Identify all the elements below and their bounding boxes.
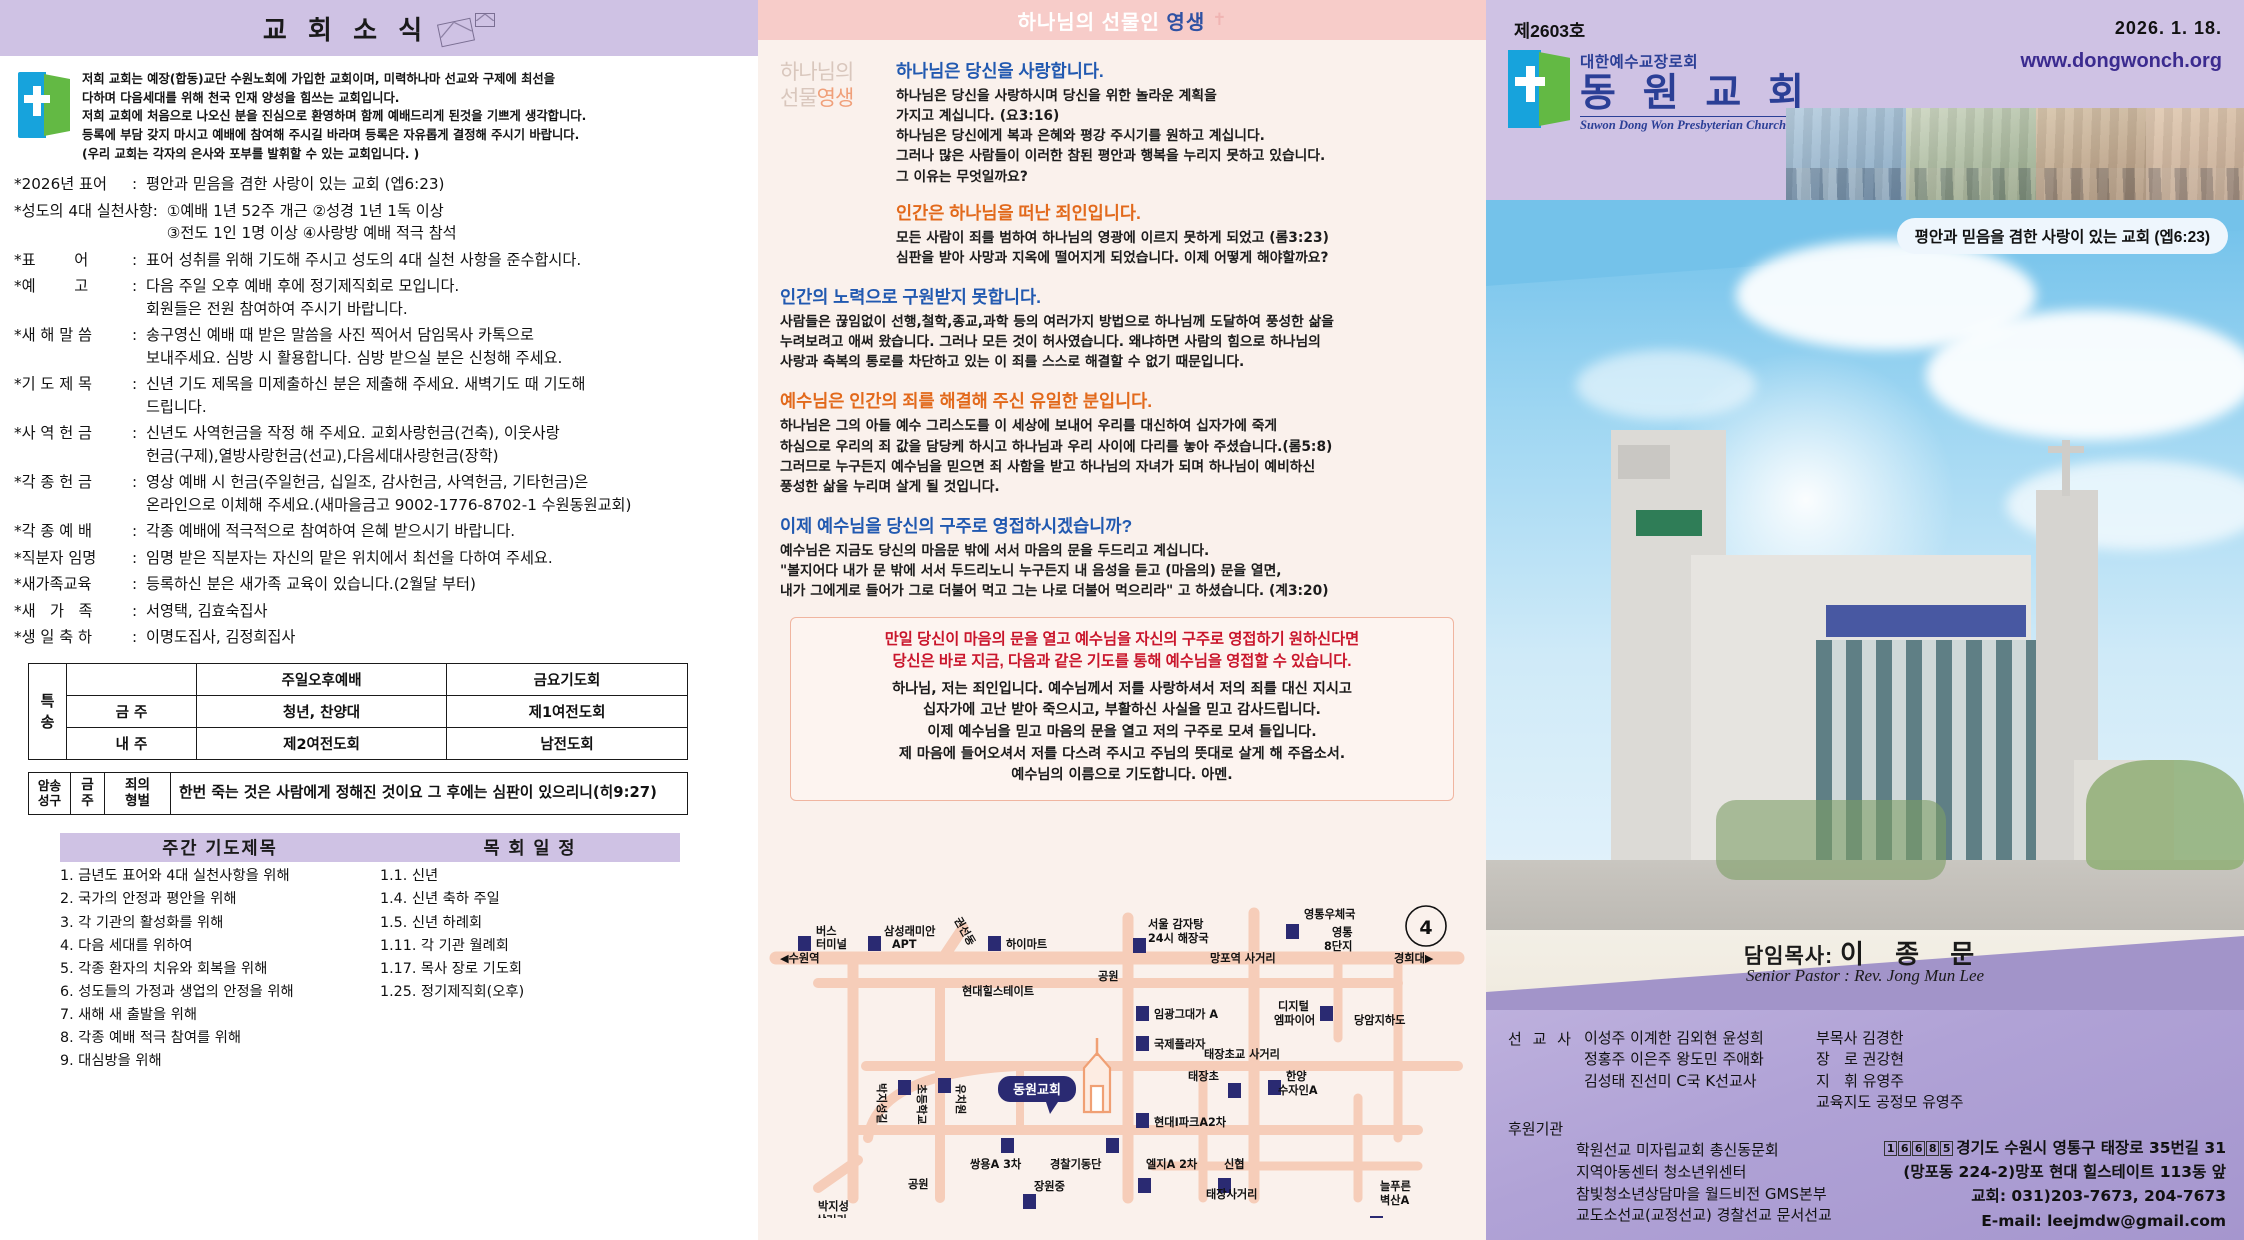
tower-sign [1636,510,1702,536]
gospel-paragraph: 하나님은 그의 아들 예수 그리스도를 이 세상에 보내어 우리를 대신하여 십… [780,416,1464,497]
svg-text:공원: 공원 [908,1177,929,1191]
envelope-icon-group [439,13,495,44]
notice-line: 온라인으로 이체해 주세요.(새마을금고 9002-1776-8702-1 수원… [146,494,746,517]
memory-verse-text: 한번 죽는 것은 사람에게 정해진 것이요 그 후에는 심판이 있으리니(히9:… [171,772,688,814]
notice-label: *새가족교육 [14,573,132,596]
notice-label: *각 종 헌 금 [14,471,132,516]
list-item: 2. 국가의 안정과 평안을 위해 [60,888,380,911]
intro-line: 저희 교회에 처음으로 나오신 분을 진심으로 환영하며 함께 예배드리게 된것… [82,107,586,126]
list-item: 장 로 권강현 [1816,1049,1964,1070]
notice-body: 임명 받은 직분자는 자신의 맡은 위치에서 최선을 다하여 주세요. [146,547,746,570]
svg-text:초등학교: 초등학교 [915,1084,929,1124]
notice-body: 등록하신 분은 새가족 교육이 있습니다.(2월달 부터) [146,573,746,596]
gospel-block-1: 하나님은 당신을 사랑합니다. 하나님은 당신을 사랑하시며 당신을 위한 놀라… [896,58,1464,268]
gospel-line: 그 이유는 무엇일까요? [896,167,1464,187]
notice-line: 이명도집사, 김정희집사 [146,626,746,649]
list-item: 1.1. 신년 [380,865,700,888]
notice-line: 서영택, 김효숙집사 [146,600,746,623]
list-item: 김성태 진선미 C국 K선교사 [1584,1071,1764,1092]
salvation-prayer-box: 만일 당신이 마음의 문을 열고 예수님을 자신의 구주로 영접하기 원하신다면… [790,617,1454,800]
notice-line: 드립니다. [146,396,746,419]
svg-text:현대힐스테이트: 현대힐스테이트 [962,984,1034,998]
list-item: 지 휘 유영주 [1816,1071,1964,1092]
svg-text:태장초교 사거리: 태장초교 사거리 [1204,1047,1280,1061]
address-text: 경기도 수원시 영통구 태장로 35번길 31 [1956,1139,2226,1157]
notice-colon: : [132,275,146,320]
list-item: 1.5. 신년 하례회 [380,912,700,935]
notice-line: 다음 주일 오후 예배 후에 정기제직회로 모입니다. [146,275,746,298]
gospel-line: 모든 사람이 죄를 범하여 하나님의 영광에 이르지 못하게 되었고 (롬3:2… [896,228,1464,248]
notice-item: *표 어 : 표어 성취를 위해 기도해 주시고 성도의 4대 실천 사항을 준… [14,249,746,272]
notice-colon: : [132,520,146,543]
svg-text:8단지: 8단지 [1324,939,1352,953]
svg-text:4: 4 [1419,917,1432,939]
gospel-line: 사람들은 끊임없이 선행,철학,종교,과학 등의 여러가지 방법으로 하나님께 … [780,312,1464,332]
gospel-line: 가지고 계십니다. (요3:16) [896,106,1464,126]
gift-watermark-line2b: 영생 [817,87,854,110]
svg-text:◀수원역: ◀수원역 [780,951,819,965]
notice-line: 등록하신 분은 새가족 교육이 있습니다.(2월달 부터) [146,573,746,596]
website-url[interactable]: www.dongwonch.org [2021,50,2222,73]
gospel-title: 하나님의 선물인 영생 [1018,6,1206,35]
svg-text:하이마트: 하이마트 [1006,937,1047,951]
svg-text:영통: 영통 [1332,926,1353,939]
envelope-small-icon [475,13,495,27]
svg-text:한양: 한양 [1286,1069,1307,1083]
weekly-prayer-list: 1. 금년도 표어와 4대 실천사항을 위해 2. 국가의 안정과 평안을 위해… [60,865,380,1073]
gospel-line: 예수님은 지금도 당신의 마음문 밖에 서서 마음의 문을 두드리고 계십니다. [780,541,1464,561]
svg-text:엠파이어: 엠파이어 [1274,1013,1315,1027]
salvation-prayer-heading: 만일 당신이 마음의 문을 열고 예수님을 자신의 구주로 영접하기 원하신다면… [803,629,1441,672]
intro-section: 저희 교회는 예장(합동)교단 수원노회에 가입한 교회이며, 미력하나마 선교… [0,56,758,163]
prayer-schedule-header: 주간 기도제목 목 회 일 정 [60,833,680,862]
gospel-block-3: 인간의 노력으로 구원받지 못합니다. 사람들은 끊임없이 선행,철학,종교,과… [780,284,1464,372]
bulletin-date: 2026. 1. 18. [2115,18,2222,39]
svg-text:국제플라자: 국제플라자 [1154,1037,1206,1051]
notice-item: *사 역 헌 금 : 신년도 사역헌금을 작정 해 주세요. 교회사랑헌금(건축… [14,422,746,467]
gospel-line: 그러므로 누구든지 예수님을 믿으면 죄 사함을 받고 하나님의 자녀가 되며 … [780,457,1464,477]
notice-item: *2026년 표어 : 평안과 믿음을 겸한 사랑이 있는 교회 (엡6:23) [14,173,746,196]
building-name-sign [1826,605,2026,637]
table-cell: 남전도회 [447,727,688,759]
notice-item: *생 일 축 하 : 이명도집사, 김정희집사 [14,626,746,649]
gospel-paragraph: 하나님은 당신을 사랑하시며 당신을 위한 놀라운 계획을 가지고 계십니다. … [896,86,1464,187]
list-item: 8. 각종 예배 적극 참여를 위해 [60,1027,380,1050]
prayer-line: 이제 예수님을 믿고 마음의 문을 열고 저의 구주로 모셔 들입니다. [803,722,1441,744]
notice-item: *성도의 4대 실천사항 : ①예배 1년 52주 개근 ②성경 1년 1독 이… [14,200,746,245]
gospel-block-4: 예수님은 인간의 죄를 해결해 주신 유일한 분입니다. 하나님은 그의 아들 … [780,388,1464,497]
notice-body: 영상 예배 시 헌금(주일헌금, 십일조, 감사헌금, 사역헌금, 기타헌금)은… [146,471,746,516]
notice-label: *기 도 제 목 [14,373,132,418]
zipcode-boxes: 16685 [1884,1141,1953,1156]
memory-verse-label: 암송성구 [29,772,71,814]
notice-line: 임명 받은 직분자는 자신의 맡은 위치에서 최선을 다하여 주세요. [146,547,746,570]
gospel-line: 하나님은 그의 아들 예수 그리스도를 이 세상에 보내어 우리를 대신하여 십… [780,416,1464,436]
gospel-heading: 인간은 하나님을 떠난 죄인입니다. [896,200,1464,225]
gospel-paragraph: 사람들은 끊임없이 선행,철학,종교,과학 등의 여러가지 방법으로 하나님께 … [780,312,1464,372]
notice-body: 신년도 사역헌금을 작정 해 주세요. 교회사랑헌금(건축), 이웃사랑 헌금(… [146,422,746,467]
notice-line: 영상 예배 시 헌금(주일헌금, 십일조, 감사헌금, 사역헌금, 기타헌금)은 [146,471,746,494]
list-item: 1.11. 각 기관 월례회 [380,935,700,958]
tree-shape [2086,760,2244,870]
table-row: 금 주 청년, 찬양대 제1여전도회 [29,695,688,727]
table-row: 내 주 제2여전도회 남전도회 [29,727,688,759]
gospel-line: 하나님은 당신을 사랑하시며 당신을 위한 놀라운 계획을 [896,86,1464,106]
notice-colon: : [153,200,167,245]
notice-line: 신년도 사역헌금을 작정 해 주세요. 교회사랑헌금(건축), 이웃사랑 [146,422,746,445]
list-item: 참빛청소년상담마을 월드비전 GMS본부 [1576,1184,1832,1206]
svg-text:태장사거리: 태장사거리 [1206,1187,1257,1201]
svg-text:태장초: 태장초 [1188,1069,1219,1083]
cross-icon: ✝ [1212,10,1226,30]
gospel-title-b: 영생 [1166,12,1205,34]
slogan-banner: 평안과 믿음을 겸한 사랑이 있는 교회 (엡6:23) [1897,218,2228,254]
table-cell: 제2여전도회 [197,727,447,759]
gospel-block-5: 이제 예수님을 당신의 구주로 영접하시겠습니까? 예수님은 지금도 당신의 마… [780,513,1464,601]
notice-body: ①예배 1년 52주 개근 ②성경 1년 1독 이상 ③전도 1인 1명 이상 … [167,200,746,245]
notice-body: 송구영신 예배 때 받은 말씀을 사진 찍어서 담임목사 카톡으로 보내주세요.… [146,324,746,369]
notice-item: *기 도 제 목 : 신년 기도 제목을 미제출하신 분은 제출해 주세요. 새… [14,373,746,418]
gift-watermark: 하나님의 선물영생 [780,58,884,268]
svg-text:당암지하도: 당암지하도 [1354,1013,1405,1027]
notice-line: 보내주세요. 심방 시 활용합니다. 심방 받으실 분은 신청해 주세요. [146,347,746,370]
notice-colon: : [132,573,146,596]
gospel-header: 하나님의 선물인 영생 ✝ [758,0,1486,40]
list-item: 7. 새해 새 출발을 위해 [60,1004,380,1027]
notice-colon: : [132,422,146,467]
column-masthead: 제2603호 2026. 1. 18. www.dongwonch.org 대한… [1486,0,2244,1240]
pastor-name: 이 종 문 [1840,939,1986,969]
list-item: 이성주 이계한 김외현 윤성희 [1584,1028,1764,1049]
notice-label: *표 어 [14,249,132,272]
ministry-schedule-header: 목 회 일 정 [380,833,680,862]
gospel-block-2: 인간은 하나님을 떠난 죄인입니다. 모든 사람이 죄를 범하여 하나님의 영광… [896,200,1464,268]
notice-body: 이명도집사, 김정희집사 [146,626,746,649]
notice-line: 송구영신 예배 때 받은 말씀을 사진 찍어서 담임목사 카톡으로 [146,324,746,347]
notice-label: *각 종 예 배 [14,520,132,543]
list-item: 3. 각 기관의 활성화를 위해 [60,912,380,935]
denomination-name: 대한예수교장로회 [1580,50,1832,72]
table-cell: 청년, 찬양대 [197,695,447,727]
list-item: 지역아동센터 청소년위센터 [1576,1162,1832,1184]
svg-text:수자인A: 수자인A [1278,1083,1318,1097]
svg-text:늘푸른: 늘푸른 [1380,1179,1411,1193]
notice-body: 다음 주일 오후 예배 후에 정기제직회로 모입니다. 회원들은 전원 참여하여… [146,275,746,320]
missionary-label: 선 교 사 [1508,1028,1574,1092]
notice-list: *2026년 표어 : 평안과 믿음을 겸한 사랑이 있는 교회 (엡6:23)… [0,163,758,649]
table-cell: 내 주 [67,727,197,759]
prayer-head-line: 당신은 바로 지금, 다음과 같은 기도를 통해 예수님을 영접할 수 있습니다… [803,651,1441,673]
ministry-schedule-list: 1.1. 신년 1.4. 신년 축하 주일 1.5. 신년 하례회 1.11. … [380,865,700,1073]
church-building-photo: 평안과 믿음을 겸한 사랑이 있는 교회 (엡6:23) [1486,200,2244,960]
notice-item: *직분자 임명 : 임명 받은 직분자는 자신의 맡은 위치에서 최선을 다하여… [14,547,746,570]
notice-line: 각종 예배에 적극적으로 참여하여 은혜 받으시기 바랍니다. [146,520,746,543]
svg-text:경희대▶: 경희대▶ [1394,951,1434,965]
list-item: 1. 금년도 표어와 4대 실천사항을 위해 [60,865,380,888]
notice-label: *새 가 족 [14,600,132,623]
svg-text:서울 감자탕: 서울 감자탕 [1148,917,1204,931]
church-news-header: 교 회 소 식 [0,0,758,56]
support-label: 후원기관 [1508,1118,1832,1139]
church-map-marker: 동원교회 [998,1076,1076,1114]
list-item: 교도소선교(교정선교) 경찰선교 문서선교 [1576,1205,1832,1227]
notice-colon: : [132,626,146,649]
notice-body: 평안과 믿음을 겸한 사랑이 있는 교회 (엡6:23) [146,173,746,196]
pastor-band: 담임목사: 이 종 문 Senior Pastor : Rev. Jong Mu… [1486,930,2244,1022]
open-door-cross-icon [18,72,70,138]
shrub-shape [1716,800,1946,880]
intro-text: 저희 교회는 예장(합동)교단 수원노회에 가입한 교회이며, 미력하나마 선교… [82,70,586,163]
notice-body: 각종 예배에 적극적으로 참여하여 은혜 받으시기 바랍니다. [146,520,746,543]
missionary-list: 이성주 이계한 김외현 윤성희 정홍주 이은주 왕도민 주애화 김성태 진선미 … [1584,1028,1764,1092]
notice-item: *새가족교육 : 등록하신 분은 새가족 교육이 있습니다.(2월달 부터) [14,573,746,596]
table-row: 특송 주일오후예배 금요기도회 [29,663,688,695]
notice-colon: : [132,600,146,623]
memory-verse-table: 암송성구 금주 죄의형벌 한번 죽는 것은 사람에게 정해진 것이요 그 후에는… [28,772,688,815]
svg-text:현대I파크A2차: 현대I파크A2차 [1154,1115,1227,1129]
gospel-heading: 인간의 노력으로 구원받지 못합니다. [780,284,1464,309]
masthead-footer: 선 교 사 이성주 이계한 김외현 윤성희 정홍주 이은주 왕도민 주애화 김성… [1486,1010,2244,1240]
special-music-label: 특송 [29,663,67,759]
svg-text:APT: APT [892,938,917,951]
svg-text:유치원: 유치원 [954,1084,968,1114]
svg-text:쌍용A 3차: 쌍용A 3차 [970,1157,1022,1171]
list-item: 학원선교 미자립교회 총신동문회 [1576,1140,1832,1162]
gospel-paragraph: 모든 사람이 죄를 범하여 하나님의 영광에 이르지 못하게 되었고 (롬3:2… [896,228,1464,268]
list-item: 5. 각종 환자의 치유와 회복을 위해 [60,958,380,981]
svg-text:터미널: 터미널 [816,937,847,951]
notice-line: ③전도 1인 1명 이상 ④사랑방 예배 적극 참석 [167,222,746,245]
gospel-line: 하심으로 우리의 죄 값을 담당케 하시고 하나님과 우리 사이에 다리를 놓아… [780,437,1464,457]
list-item: 6. 성도들의 가정과 생업의 안정을 위해 [60,981,380,1004]
notice-item: *각 종 예 배 : 각종 예배에 적극적으로 참여하여 은혜 받으시기 바랍니… [14,520,746,543]
svg-text:삼성래미안: 삼성래미안 [884,924,936,938]
notice-label: *성도의 4대 실천사항 [14,200,153,245]
prayer-line: 제 마음에 들어오셔서 저를 다스려 주시고 주님의 뜻대로 살게 해 주옵소서… [803,744,1441,766]
address-line-1: 16685경기도 수원시 영통구 태장로 35번길 31 [1884,1136,2226,1160]
notice-label: *2026년 표어 [14,173,132,196]
gift-watermark-line2a: 선물 [780,87,817,110]
svg-text:디지털: 디지털 [1278,999,1309,1013]
missionary-section: 선 교 사 이성주 이계한 김외현 윤성희 정홍주 이은주 왕도민 주애화 김성… [1508,1028,1764,1092]
svg-text:삼거리: 삼거리 [816,1213,847,1218]
notice-colon: : [132,547,146,570]
intro-line: (우리 교회는 각자의 은사와 포부를 발휘할 수 있는 교회입니다. ) [82,145,586,164]
compass-icon: 4 [1406,906,1446,946]
notice-body: 서영택, 김효숙집사 [146,600,746,623]
intro-line: 다하며 다음세대를 위해 천국 인재 양성을 힘쓰는 교회입니다. [82,89,586,108]
memory-verse-week: 금주 [71,772,105,814]
table-cell: 제1여전도회 [447,695,688,727]
svg-text:박지성: 박지성 [818,1199,849,1213]
column-gospel: 하나님의 선물인 영생 ✝ 하나님의 선물영생 하나님은 당신을 사랑합니다. … [758,0,1486,1240]
gospel-first-block: 하나님의 선물영생 하나님은 당신을 사랑합니다. 하나님은 당신을 사랑하시며… [780,58,1464,268]
map-svg: 동원교회 4 버스터미널 삼성래미안APT 하이마트 서울 감자탕24시 해장국… [758,898,1486,1218]
email-address[interactable]: E-mail: leejmdw@gmail.com [1884,1209,2226,1233]
gospel-line: 내가 그에게로 들어가 그로 더불어 먹고 그는 나로 더불어 먹으리라" 고 … [780,581,1464,601]
svg-text:공원: 공원 [1098,969,1119,983]
list-item: 1.25. 정기제직회(오후) [380,981,700,1004]
support-list: 학원선교 미자립교회 총신동문회 지역아동센터 청소년위센터 참빛청소년상담마을… [1576,1140,1832,1227]
issue-number: 제2603호 [1514,18,1585,43]
notice-label: *직분자 임명 [14,547,132,570]
notice-label: *생 일 축 하 [14,626,132,649]
svg-text:신협: 신협 [1224,1157,1245,1171]
svg-text:엘지A 2차: 엘지A 2차 [1146,1157,1198,1171]
svg-text:임광그대가 A: 임광그대가 A [1154,1007,1218,1021]
table-row: 암송성구 금주 죄의형벌 한번 죽는 것은 사람에게 정해진 것이요 그 후에는… [29,772,688,814]
special-music-table: 특송 주일오후예배 금요기도회 금 주 청년, 찬양대 제1여전도회 내 주 제… [28,663,688,760]
svg-text:벽산A: 벽산A [1380,1193,1410,1207]
svg-text:동원교회: 동원교회 [1013,1082,1061,1098]
address-line-2: (망포동 224-2)망포 현대 힐스테이트 113동 앞 [1884,1160,2226,1184]
notice-line: 표어 성취를 위해 기도해 주시고 성도의 4대 실천 사항을 준수합시다. [146,249,746,272]
church-news-title: 교 회 소 식 [263,10,429,47]
salvation-prayer-text: 하나님, 저는 죄인입니다. 예수님께서 저를 사랑하셔서 저의 죄를 대신 지… [803,679,1441,787]
svg-text:박지성길: 박지성길 [875,1083,889,1123]
gospel-title-a: 하나님의 선물인 [1018,12,1167,34]
table-header-cell: 주일오후예배 [197,663,447,695]
notice-colon: : [132,173,146,196]
gospel-heading: 하나님은 당신을 사랑합니다. [896,58,1464,83]
tower-window [1618,445,1670,479]
prayer-schedule-body: 1. 금년도 표어와 4대 실천사항을 위해 2. 국가의 안정과 평안을 위해… [60,865,700,1073]
table-cell [67,663,197,695]
svg-text:망포역 사거리: 망포역 사거리 [1210,951,1276,965]
notice-item: *새 가 족 : 서영택, 김효숙집사 [14,600,746,623]
gospel-line: "볼지어다 내가 문 밖에 서서 두드리노니 누구든지 내 음성을 듣고 (마음… [780,561,1464,581]
svg-text:장원중: 장원중 [1034,1179,1065,1193]
intro-line: 저희 교회는 예장(합동)교단 수원노회에 가입한 교회이며, 미력하나마 선교… [82,70,586,89]
notice-body: 신년 기도 제목을 미제출하신 분은 제출해 주세요. 새벽기도 때 기도해 드… [146,373,746,418]
column-church-news: 교 회 소 식 저희 교회는 예장(합동)교단 수원노회에 가입한 교회이며, … [0,0,758,1240]
bulletin-page: 교 회 소 식 저희 교회는 예장(합동)교단 수원노회에 가입한 교회이며, … [0,0,2244,1240]
list-item: 교육지도 공정모 유영주 [1816,1092,1964,1113]
list-item: 9. 대심방을 위해 [60,1050,380,1073]
prayer-head-line: 만일 당신이 마음의 문을 열고 예수님을 자신의 구주로 영접하기 원하신다면 [803,629,1441,651]
support-section: 후원기관 학원선교 미자립교회 총신동문회 지역아동센터 청소년위센터 참빛청소… [1508,1118,1832,1227]
gospel-heading: 예수님은 인간의 죄를 해결해 주신 유일한 분입니다. [780,388,1464,413]
list-item: 4. 다음 세대를 위하여 [60,935,380,958]
notice-item: *각 종 헌 금 : 영상 예배 시 헌금(주일헌금, 십일조, 감사헌금, 사… [14,471,746,516]
gospel-line: 사랑과 축복의 통로를 차단하고 있는 이 죄를 스스로 해결할 수 없기 때문… [780,352,1464,372]
notice-line: 헌금(구제),열방사랑헌금(선교),다음세대사랑헌금(장학) [146,445,746,468]
phone-number[interactable]: 교회: 031)203-7673, 204-7673 [1884,1184,2226,1208]
notice-line: ①예배 1년 52주 개근 ②성경 1년 1독 이상 [167,200,746,223]
notice-line: 평안과 믿음을 겸한 사랑이 있는 교회 (엡6:23) [146,173,746,196]
notice-label: *사 역 헌 금 [14,422,132,467]
notice-line: 신년 기도 제목을 미제출하신 분은 제출해 주세요. 새벽기도 때 기도해 [146,373,746,396]
steeple-cross [2048,446,2084,453]
list-item: 부목사 김경한 [1816,1028,1964,1049]
table-header-cell: 금요기도회 [447,663,688,695]
intro-line: 등록에 부담 갖지 마시고 예배에 참여해 주시길 바라며 등록은 자유롭게 결… [82,126,586,145]
envelope-icon [437,17,475,47]
table-cell: 금 주 [67,695,197,727]
notice-colon: : [132,249,146,272]
contact-block: 16685경기도 수원시 영통구 태장로 35번길 31 (망포동 224-2)… [1884,1136,2226,1233]
svg-text:영통우체국: 영통우체국 [1304,907,1355,921]
prayer-line: 하나님, 저는 죄인입니다. 예수님께서 저를 사랑하셔서 저의 죄를 대신 지… [803,679,1441,701]
pastor-name-english: Senior Pastor : Rev. Jong Mun Lee [1486,966,2244,986]
notice-line: 회원들은 전원 참여하여 주시기 바랍니다. [146,298,746,321]
prayer-line: 예수님의 이름으로 기도합니다. 아멘. [803,765,1441,787]
gift-watermark-line1: 하나님의 [780,60,884,86]
notice-colon: : [132,324,146,369]
list-item: 1.17. 목사 장로 기도회 [380,958,700,981]
gospel-line: 하나님은 당신에게 복과 은혜와 평강 주시기를 원하고 계십니다. [896,126,1464,146]
svg-text:버스: 버스 [816,924,837,938]
weekly-prayer-header: 주간 기도제목 [60,833,380,862]
notice-item: *새 해 말 씀 : 송구영신 예배 때 받은 말씀을 사진 찍어서 담임목사 … [14,324,746,369]
gospel-heading: 이제 예수님을 당신의 구주로 영접하시겠습니까? [780,513,1464,538]
notice-colon: : [132,471,146,516]
svg-text:경찰기동단: 경찰기동단 [1050,1157,1102,1171]
prayer-line: 십자가에 고난 받아 죽으시고, 부활하신 사실을 믿고 감사드립니다. [803,700,1441,722]
svg-text:24시 해장국: 24시 해장국 [1148,931,1209,945]
gospel-line: 풍성한 삶을 누리며 살게 될 것입니다. [780,477,1464,497]
list-item: 1.4. 신년 축하 주일 [380,888,700,911]
notice-body: 표어 성취를 위해 기도해 주시고 성도의 4대 실천 사항을 준수합시다. [146,249,746,272]
notice-item: *예 고 : 다음 주일 오후 예배 후에 정기제직회로 모입니다. 회원들은 … [14,275,746,320]
location-map: 동원교회 4 버스터미널 삼성래미안APT 하이마트 서울 감자탕24시 해장국… [758,898,1486,1218]
notice-label: *예 고 [14,275,132,320]
gospel-line: 그러나 많은 사람들이 이러한 참된 평안과 행복을 누리지 못하고 있습니다. [896,146,1464,166]
gospel-line: 누려보려고 애써 왔습니다. 그러나 모든 것이 허사였습니다. 왜냐하면 사람… [780,332,1464,352]
gospel-line: 심판을 받아 사망과 지옥에 떨어지게 되었습니다. 이제 어떻게 해야할까요? [896,248,1464,268]
staff-list: 부목사 김경한 장 로 권강현 지 휘 유영주 교육지도 공정모 유영주 [1816,1028,1964,1113]
memory-verse-topic: 죄의형벌 [105,772,171,814]
gospel-body: 하나님의 선물영생 하나님은 당신을 사랑합니다. 하나님은 당신을 사랑하시며… [758,40,1486,801]
pastor-label: 담임목사: [1744,945,1840,968]
list-item: 정홍주 이은주 왕도민 주애화 [1584,1049,1764,1070]
gospel-paragraph: 예수님은 지금도 당신의 마음문 밖에 서서 마음의 문을 두드리고 계십니다.… [780,541,1464,601]
notice-colon: : [132,373,146,418]
notice-label: *새 해 말 씀 [14,324,132,369]
